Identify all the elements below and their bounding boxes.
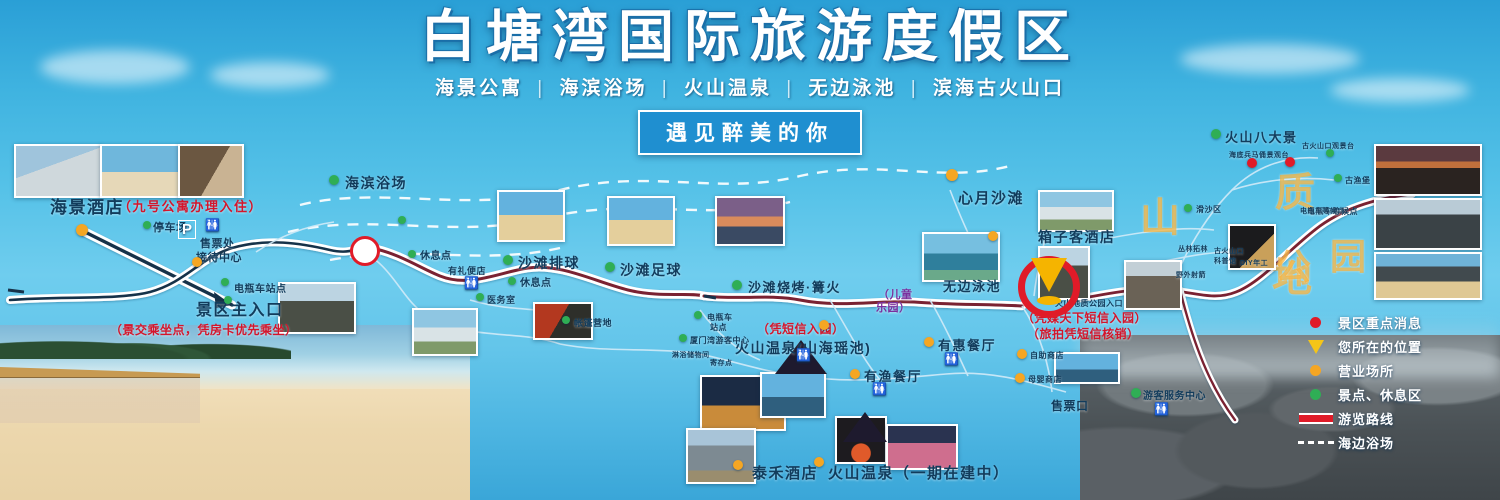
map-label-diy-workshop[interactable]: DIY年工 [1240, 260, 1268, 268]
legend-row: 景区重点消息 [1294, 312, 1422, 333]
map-label-kids-park-2[interactable]: 乐园） [876, 302, 911, 315]
legend-label: 海边浴场 [1338, 433, 1394, 452]
orange-dot-icon [192, 257, 202, 267]
feature-separator: | [911, 78, 919, 99]
map-label-seaview-hotel[interactable]: 海景酒店 [50, 198, 124, 218]
map-label-infinity-pool[interactable]: 无边泳池 [943, 280, 1001, 295]
map-label-beach-volleyball[interactable]: 沙滩排球 [518, 255, 580, 271]
volcano-icon [843, 412, 887, 442]
green-dot-icon [679, 334, 687, 342]
orange-dot-icon [814, 457, 824, 467]
map-label-clinic[interactable]: 医务室 [487, 295, 516, 305]
green-dot-icon [476, 293, 484, 301]
feature-separator: | [662, 78, 670, 99]
watermark-char: 山 [1140, 185, 1180, 243]
orange-dot-icon [988, 231, 998, 241]
photo-thumbnail-beach-sculpture[interactable] [607, 196, 675, 246]
legend-row: 营业场所 [1294, 360, 1422, 381]
map-label-ticket-office[interactable]: 售票处 [200, 238, 235, 251]
green-dot-icon [329, 175, 339, 185]
feature-separator: | [786, 78, 794, 99]
orange-dot-icon [819, 320, 829, 330]
photo-thumbnail-infinity-pool[interactable] [922, 232, 1000, 282]
map-label-seaview-hotel-note[interactable]: （九号公寓办理入住） [118, 200, 263, 215]
green-dot-icon [221, 278, 229, 286]
orange-dot-icon [1017, 349, 1027, 359]
restroom-icon: 🚻 [872, 382, 887, 396]
map-label-outdoor-archery[interactable]: 野外射箭 [1176, 272, 1206, 280]
green-dot-icon [1131, 388, 1141, 398]
slogan-ribbon: 遇见醉美的你 [638, 110, 862, 155]
photo-thumbnail-spring-domes[interactable] [886, 424, 958, 470]
feature-item: 海景公寓 [435, 78, 523, 99]
photo-thumbnail-atv[interactable] [1124, 260, 1182, 310]
restroom-icon: 🚻 [1154, 402, 1169, 416]
map-label-volcano-spring-ph1[interactable]: 火山温泉（一期在建中） [828, 465, 1010, 482]
green-dot-icon [224, 296, 232, 304]
green-dot-icon [605, 262, 615, 272]
map-label-visitor-center[interactable]: 游客服务中心 [1143, 391, 1206, 403]
pin-head [350, 236, 380, 266]
photo-thumbnail-hotspring[interactable] [760, 372, 826, 418]
map-label-jungle-trail[interactable]: 丛林拓林 [1178, 246, 1208, 254]
map-label-shower-locker[interactable]: 淋浴储物间 [672, 352, 710, 360]
red-dot-icon [1247, 158, 1257, 168]
page-title: 白塘湾国际旅游度假区 [0, 8, 1500, 67]
map-label-taihe-hotel[interactable]: 泰禾酒店 [752, 465, 818, 482]
map-label-reception-center[interactable]: 接待中心 [196, 252, 242, 265]
watermark-char: 园 [1330, 228, 1366, 280]
map-label-shuttle-stop-2b[interactable]: 站点 [710, 323, 727, 332]
orange-dot-icon [76, 224, 88, 236]
feature-item: 海滨浴场 [559, 78, 647, 99]
map-label-beach-football[interactable]: 沙滩足球 [620, 262, 682, 278]
photo-thumbnail-rock-waves[interactable] [1374, 198, 1482, 250]
map-label-shuttle-stop-1[interactable]: 电瓶车站点 [234, 284, 287, 296]
photo-thumbnail-beach-volleyball[interactable] [497, 190, 565, 242]
red-dot-icon [1294, 317, 1338, 328]
photo-thumbnail-sunset-kayak[interactable] [715, 196, 785, 246]
map-label-ancient-crater[interactable]: 古火山口 [1214, 248, 1244, 256]
map-label-convenience-store[interactable]: 有礼便店 [448, 266, 486, 276]
dashed-line-icon [1294, 441, 1338, 444]
legend-row: 海边浴场 [1294, 432, 1422, 453]
feature-item: 无边泳池 [809, 78, 897, 99]
green-dot-icon [143, 221, 151, 229]
green-dot-icon [562, 316, 570, 324]
photo-thumbnail-taihe-hotel[interactable] [686, 428, 756, 484]
map-label-beach-bbq[interactable]: 沙滩烧烤·篝火 [748, 281, 841, 296]
route-map-pin-icon[interactable] [350, 236, 374, 266]
you-are-here-marker[interactable] [1018, 256, 1080, 318]
map-label-geopark-note-2[interactable]: （旅拍凭短信核销） [1027, 328, 1140, 342]
green-dot-icon [398, 216, 406, 224]
map-label-mother-baby-store[interactable]: 母婴商店 [1028, 375, 1062, 384]
watermark-char: 公 [1275, 238, 1311, 290]
green-dot-icon [1184, 204, 1192, 212]
orange-dot-icon [924, 337, 934, 347]
restroom-icon: 🚻 [944, 352, 959, 366]
legend-label: 游览路线 [1338, 409, 1394, 428]
legend-label: 景点、休息区 [1338, 385, 1422, 404]
location-pin-icon [1294, 340, 1338, 354]
map-label-sand-slide[interactable]: 滑沙区 [1196, 205, 1222, 214]
parking-icon: P [178, 220, 196, 239]
feature-item: 滨海古火山口 [933, 78, 1065, 99]
map-label-rest-point-1[interactable]: 休息点 [420, 251, 452, 263]
resort-map-poster: 白塘湾国际旅游度假区 海景公寓 | 海滨浴场 | 火山温泉 | 无边泳池 | 滨… [0, 0, 1500, 500]
map-label-xinyue-beach[interactable]: 心月沙滩 [958, 190, 1024, 207]
green-dot-icon [1334, 174, 1342, 182]
legend-label: 营业场所 [1338, 361, 1394, 380]
map-label-rest-point-2[interactable]: 休息点 [520, 278, 552, 290]
orange-dot-icon [946, 169, 958, 181]
legend-label: 景区重点消息 [1338, 313, 1422, 332]
feature-separator: | [537, 78, 545, 99]
map-label-xiamen-bay-center[interactable]: 厦门湾游客中心 [690, 336, 750, 345]
red-dot-icon [1285, 157, 1295, 167]
orange-dot-icon [850, 369, 860, 379]
map-label-beach-bath[interactable]: 海滨浴场 [345, 175, 407, 191]
marker-base [1037, 296, 1061, 305]
restroom-icon: 🚻 [796, 348, 811, 362]
map-label-hotspring-note[interactable]: （凭短信入园） [757, 323, 845, 337]
poster-header: 白塘湾国际旅游度假区 海景公寓 | 海滨浴场 | 火山温泉 | 无边泳池 | 滨… [0, 8, 1500, 155]
green-dot-icon [1294, 389, 1338, 400]
map-label-main-entrance-note[interactable]: （景交乘坐点，凭房卡优先乘坐） [110, 324, 298, 338]
route-line-icon [1294, 413, 1338, 424]
feature-item: 火山温泉 [684, 78, 772, 99]
map-label-kids-park[interactable]: （儿童 [878, 289, 913, 302]
photo-thumbnail-xiangzike-hotel[interactable] [1038, 190, 1114, 232]
map-label-ticket-gate[interactable]: 售票口 [1051, 400, 1089, 414]
marker-pin-icon [1031, 258, 1067, 292]
map-label-shuttle-wait-2[interactable]: 电瓶车等候点 [1300, 208, 1345, 216]
restroom-icon: 🚻 [464, 276, 479, 290]
photo-thumbnail-rock-beach[interactable] [1374, 252, 1482, 300]
green-dot-icon [408, 250, 416, 258]
map-label-tent-camp[interactable]: 帐篷营地 [574, 318, 612, 328]
legend-label: 您所在的位置 [1338, 337, 1422, 356]
green-dot-icon [503, 255, 513, 265]
orange-dot-icon [1015, 373, 1025, 383]
map-label-xiangzike-hotel[interactable]: 箱子客酒店 [1038, 229, 1116, 245]
map-label-main-entrance[interactable]: 景区主入口 [196, 302, 284, 320]
map-label-ancient-fort[interactable]: 古渔堡 [1345, 176, 1371, 185]
map-label-science-hall[interactable]: 科普馆 [1214, 258, 1237, 266]
green-dot-icon [508, 277, 516, 285]
map-legend: 景区重点消息 您所在的位置 营业场所 景点、休息区 游览路线 海边浴场 [1294, 312, 1422, 456]
legend-row: 游览路线 [1294, 408, 1422, 429]
legend-row: 景点、休息区 [1294, 384, 1422, 405]
orange-dot-icon [733, 460, 743, 470]
map-label-shuttle-stop-2[interactable]: 电瓶车 [707, 313, 733, 322]
map-label-self-store[interactable]: 自助商店 [1030, 351, 1064, 360]
green-dot-icon [732, 280, 742, 290]
photo-thumbnail-resort-lawn[interactable] [412, 308, 478, 356]
feature-list: 海景公寓 | 海滨浴场 | 火山温泉 | 无边泳池 | 滨海古火山口 [0, 73, 1500, 100]
map-label-storage-point[interactable]: 寄存点 [710, 360, 733, 368]
restroom-icon: 🚻 [205, 218, 220, 232]
green-dot-icon [694, 311, 702, 319]
orange-dot-icon [1294, 365, 1338, 376]
legend-row: 您所在的位置 [1294, 336, 1422, 357]
